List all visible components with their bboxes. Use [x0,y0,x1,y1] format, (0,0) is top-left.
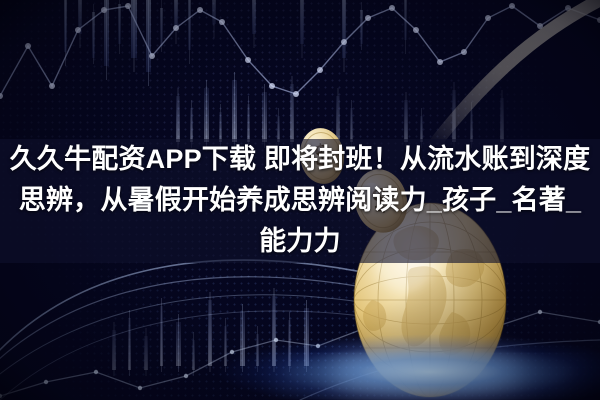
banner-image: $$ 久久牛配资APP下载 即将封班！从流水账到深度思辨，从暑假开始养成思辨阅读… [0,0,600,400]
headline-text: 久久牛配资APP下载 即将封班！从流水账到深度思辨，从暑假开始养成思辨阅读力_孩… [0,139,600,263]
